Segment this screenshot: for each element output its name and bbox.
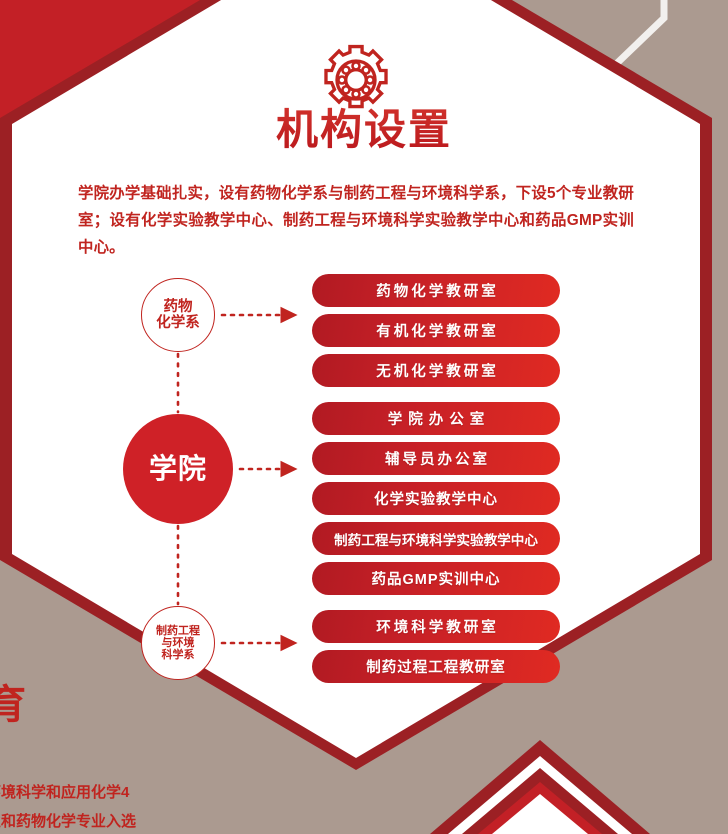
org-pill-item[interactable]: 无机化学教研室 [312, 354, 560, 387]
org-pill-item[interactable]: 有机化学教研室 [312, 314, 560, 347]
clipped-body-line: 程专业和药物化学专业入选 [0, 807, 286, 834]
org-pill-label: 药物化学教研室 [373, 280, 499, 301]
page-title: 机构设置 [0, 104, 728, 156]
intro-paragraph: 学院办学基础扎实，设有药物化学系与制药工程与环境科学系，下设5个专业教研室；设有… [78, 180, 634, 261]
clipped-heading-character: 育 [0, 672, 26, 730]
org-node-label: 学院 [149, 453, 207, 484]
org-node-department-pharmaceutical-chemistry[interactable]: 药物 化学系 [141, 278, 215, 352]
org-chart: 药物 化学系 学院 制药工程 与环境 科学系 药物化学教研室 有机化学教研室 无… [0, 258, 728, 688]
org-pill-label: 环境科学教研室 [373, 616, 499, 637]
org-pill-item[interactable]: 环境科学教研室 [312, 610, 560, 643]
org-pill-label: 学院办公室 [382, 408, 491, 429]
poster-canvas: 机构设置 学院办学基础扎实，设有药物化学系与制药工程与环境科学系，下设5个专业教… [0, 0, 728, 834]
org-pill-label: 辅导员办公室 [382, 448, 490, 469]
org-pill-label: 有机化学教研室 [373, 320, 499, 341]
org-node-label: 制药工程 与环境 科学系 [156, 625, 200, 662]
org-pill-item[interactable]: 制药过程工程教研室 [312, 650, 560, 683]
org-pill-item[interactable]: 学院办公室 [312, 402, 560, 435]
org-pill-label: 无机化学教研室 [373, 360, 499, 381]
org-pill-item[interactable]: 化学实验教学中心 [312, 482, 560, 515]
org-pill-label: 化学实验教学中心 [374, 488, 498, 509]
clipped-body-text: 学、环境科学和应用化学4 程专业和药物化学专业入选 [0, 778, 286, 834]
org-node-department-pharmaceutical-engineering[interactable]: 制药工程 与环境 科学系 [141, 606, 215, 680]
org-pill-item[interactable]: 药物化学教研室 [312, 274, 560, 307]
org-pill-item[interactable]: 药品GMP实训中心 [312, 562, 560, 595]
org-pill-item[interactable]: 辅导员办公室 [312, 442, 560, 475]
clipped-body-line: 学、环境科学和应用化学4 [0, 778, 286, 807]
org-pill-label: 制药工程与环境科学实验教学中心 [334, 529, 538, 549]
org-pill-item[interactable]: 制药工程与环境科学实验教学中心 [312, 522, 560, 555]
org-node-label: 药物 化学系 [156, 299, 200, 331]
org-pill-label: 制药过程工程教研室 [366, 656, 506, 677]
org-pill-label: 药品GMP实训中心 [371, 568, 500, 589]
org-node-college[interactable]: 学院 [123, 414, 233, 524]
